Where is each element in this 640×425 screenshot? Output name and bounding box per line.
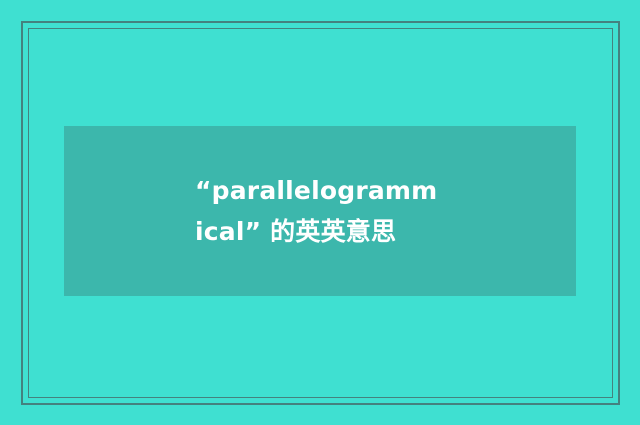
title-panel: “parallelogrammical” 的英英意思 bbox=[64, 126, 576, 296]
thumbnail-card: “parallelogrammical” 的英英意思 bbox=[0, 0, 640, 425]
page-title: “parallelogrammical” 的英英意思 bbox=[195, 170, 445, 253]
